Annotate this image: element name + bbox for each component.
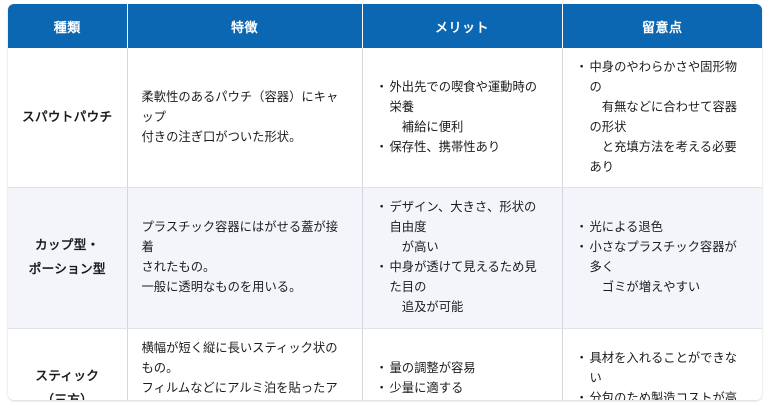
feature-line: フィルムなどにアルミ泊を貼ったアルミ — [142, 379, 348, 400]
cell-note: 具材を入れることができない分包のため製造コストが高め — [562, 328, 762, 400]
cell-merit: 量の調整が容易少量に適する光や酸素に強い — [362, 328, 562, 400]
cell-merit-list: デザイン、大きさ、形状の自由度 が高い中身が透けて見えるため見た目の 追及が可能 — [377, 198, 548, 317]
feature-line: プラスチック容器にはがせる蓋が接着 — [142, 218, 348, 258]
type-label: スティック — [14, 365, 121, 389]
cell-merit: デザイン、大きさ、形状の自由度 が高い中身が透けて見えるため見た目の 追及が可能 — [362, 188, 562, 328]
merit-item: 少量に適する — [377, 379, 548, 399]
note-item: 具材を入れることができない — [577, 349, 749, 389]
container-comparison-table: 種類 特徴 メリット 留意点 スパウトパウチ柔軟性のあるパウチ（容器）にキャップ… — [8, 4, 762, 400]
column-header-note: 留意点 — [562, 4, 762, 48]
note-item: 中身のやわらかさや固形物の 有無などに合わせて容器の形状 と充填方法を考える必要… — [577, 58, 749, 177]
merit-item: 保存性、携帯性あり — [377, 138, 548, 158]
comparison-table-wrapper: 種類 特徴 メリット 留意点 スパウトパウチ柔軟性のあるパウチ（容器）にキャップ… — [8, 4, 762, 400]
cell-merit-list: 量の調整が容易少量に適する光や酸素に強い — [377, 359, 548, 400]
cell-type: カップ型・ポーション型 — [8, 188, 127, 328]
type-label-secondary: ポーション型 — [14, 258, 121, 282]
feature-text: 横幅が短く縦に長いスティック状のもの。フィルムなどにアルミ泊を貼ったアルミ包装が… — [142, 339, 348, 400]
note-item: 光による退色 — [577, 218, 749, 238]
column-header-merit: メリット — [362, 4, 562, 48]
cell-feature: 横幅が短く縦に長いスティック状のもの。フィルムなどにアルミ泊を貼ったアルミ包装が… — [127, 328, 362, 400]
table-row: スティック（三方）横幅が短く縦に長いスティック状のもの。フィルムなどにアルミ泊を… — [8, 328, 762, 400]
feature-line: 一般に透明なものを用いる。 — [142, 278, 348, 298]
page-container: 種類 特徴 メリット 留意点 スパウトパウチ柔軟性のあるパウチ（容器）にキャップ… — [0, 0, 770, 410]
cell-feature: プラスチック容器にはがせる蓋が接着されたもの。一般に透明なものを用いる。 — [127, 188, 362, 328]
cell-note-list: 中身のやわらかさや固形物の 有無などに合わせて容器の形状 と充填方法を考える必要… — [577, 58, 749, 177]
merit-item: 光や酸素に強い — [377, 399, 548, 400]
table-row: カップ型・ポーション型プラスチック容器にはがせる蓋が接着されたもの。一般に透明な… — [8, 188, 762, 328]
table-row: スパウトパウチ柔軟性のあるパウチ（容器）にキャップ付きの注ぎ口がついた形状。外出… — [8, 48, 762, 188]
feature-text: 柔軟性のあるパウチ（容器）にキャップ付きの注ぎ口がついた形状。 — [142, 88, 348, 148]
feature-line: 横幅が短く縦に長いスティック状の — [142, 339, 348, 359]
header-row: 種類 特徴 メリット 留意点 — [8, 4, 762, 48]
feature-line: 柔軟性のあるパウチ（容器）にキャップ — [142, 88, 348, 128]
table-header: 種類 特徴 メリット 留意点 — [8, 4, 762, 48]
cell-note-list: 光による退色小さなプラスチック容器が多く ゴミが増えやすい — [577, 218, 749, 298]
type-label: スパウトパウチ — [14, 106, 121, 130]
type-label: カップ型・ — [14, 234, 121, 258]
merit-item: 中身が透けて見えるため見た目の 追及が可能 — [377, 258, 548, 318]
cell-feature: 柔軟性のあるパウチ（容器）にキャップ付きの注ぎ口がついた形状。 — [127, 48, 362, 188]
feature-line: 付きの注ぎ口がついた形状。 — [142, 128, 348, 148]
feature-text: プラスチック容器にはがせる蓋が接着されたもの。一般に透明なものを用いる。 — [142, 218, 348, 298]
cell-note: 中身のやわらかさや固形物の 有無などに合わせて容器の形状 と充填方法を考える必要… — [562, 48, 762, 188]
merit-item: 外出先での喫食や運動時の栄養 補給に便利 — [377, 78, 548, 138]
cell-type: スティック（三方） — [8, 328, 127, 400]
column-header-type: 種類 — [8, 4, 127, 48]
cell-type: スパウトパウチ — [8, 48, 127, 188]
merit-item: デザイン、大きさ、形状の自由度 が高い — [377, 198, 548, 258]
merit-item: 量の調整が容易 — [377, 359, 548, 379]
feature-line: もの。 — [142, 359, 348, 379]
cell-note-list: 具材を入れることができない分包のため製造コストが高め — [577, 349, 749, 400]
type-label-secondary: （三方） — [14, 389, 121, 400]
feature-line: されたもの。 — [142, 258, 348, 278]
table-body: スパウトパウチ柔軟性のあるパウチ（容器）にキャップ付きの注ぎ口がついた形状。外出… — [8, 48, 762, 400]
note-item: 分包のため製造コストが高め — [577, 389, 749, 400]
cell-merit-list: 外出先での喫食や運動時の栄養 補給に便利保存性、携帯性あり — [377, 78, 548, 158]
cell-note: 光による退色小さなプラスチック容器が多く ゴミが増えやすい — [562, 188, 762, 328]
cell-merit: 外出先での喫食や運動時の栄養 補給に便利保存性、携帯性あり — [362, 48, 562, 188]
column-header-feature: 特徴 — [127, 4, 362, 48]
note-item: 小さなプラスチック容器が多く ゴミが増えやすい — [577, 238, 749, 298]
